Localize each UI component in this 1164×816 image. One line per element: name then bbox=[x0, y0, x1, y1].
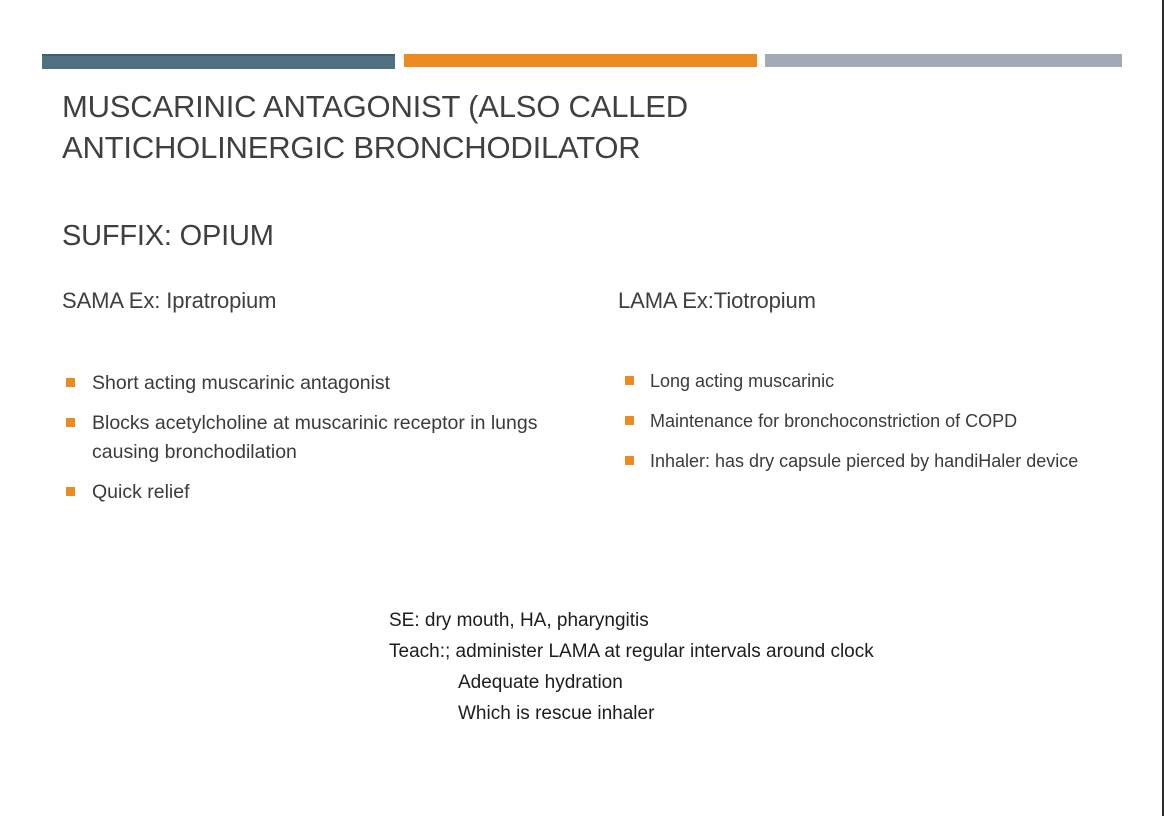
list-item-label: Quick relief bbox=[92, 478, 582, 507]
list-item: Blocks acetylcholine at muscarinic recep… bbox=[62, 409, 582, 467]
slide-subtitle-suffix: SUFFIX: OPIUM bbox=[62, 218, 274, 254]
header-rule-band bbox=[42, 54, 1122, 67]
square-bullet-icon bbox=[66, 418, 75, 427]
list-item-label: Short acting muscarinic antagonist bbox=[92, 369, 582, 398]
footer-note-block: SE: dry mouth, HA, pharyngitis Teach:; a… bbox=[389, 605, 1009, 729]
header-rule-segment-orange bbox=[404, 54, 757, 67]
footer-note-line: SE: dry mouth, HA, pharyngitis bbox=[389, 605, 1009, 636]
column-sama: SAMA Ex: Ipratropium Short acting muscar… bbox=[62, 286, 582, 518]
square-bullet-icon bbox=[625, 376, 634, 385]
column-lama-bullet-list: Long acting muscarinic Maintenance for b… bbox=[618, 368, 1128, 474]
list-item: Long acting muscarinic bbox=[618, 368, 1128, 394]
square-bullet-icon bbox=[625, 416, 634, 425]
list-item-label: Blocks acetylcholine at muscarinic recep… bbox=[92, 409, 582, 467]
list-item-label: Inhaler: has dry capsule pierced by hand… bbox=[650, 448, 1128, 474]
header-rule-segment-gray bbox=[765, 54, 1122, 67]
square-bullet-icon bbox=[66, 487, 75, 496]
list-item: Quick relief bbox=[62, 478, 582, 507]
column-sama-heading: SAMA Ex: Ipratropium bbox=[62, 286, 582, 316]
list-item-label: Long acting muscarinic bbox=[650, 368, 1128, 394]
header-rule-segment-teal bbox=[42, 54, 395, 69]
slide-title: MUSCARINIC ANTAGONIST (ALSO CALLED ANTIC… bbox=[62, 86, 962, 168]
square-bullet-icon bbox=[625, 456, 634, 465]
list-item: Maintenance for bronchoconstriction of C… bbox=[618, 408, 1128, 434]
list-item: Inhaler: has dry capsule pierced by hand… bbox=[618, 448, 1128, 474]
column-lama: LAMA Ex:Tiotropium Long acting muscarini… bbox=[618, 286, 1128, 488]
column-sama-bullet-list: Short acting muscarinic antagonist Block… bbox=[62, 369, 582, 507]
footer-note-line: Teach:; administer LAMA at regular inter… bbox=[389, 636, 1009, 667]
list-item: Short acting muscarinic antagonist bbox=[62, 369, 582, 398]
column-lama-heading: LAMA Ex:Tiotropium bbox=[618, 286, 1128, 316]
footer-note-line: Adequate hydration bbox=[389, 667, 1009, 698]
square-bullet-icon bbox=[66, 378, 75, 387]
footer-note-line: Which is rescue inhaler bbox=[389, 698, 1009, 729]
slide-canvas: MUSCARINIC ANTAGONIST (ALSO CALLED ANTIC… bbox=[0, 0, 1164, 816]
list-item-label: Maintenance for bronchoconstriction of C… bbox=[650, 408, 1128, 434]
